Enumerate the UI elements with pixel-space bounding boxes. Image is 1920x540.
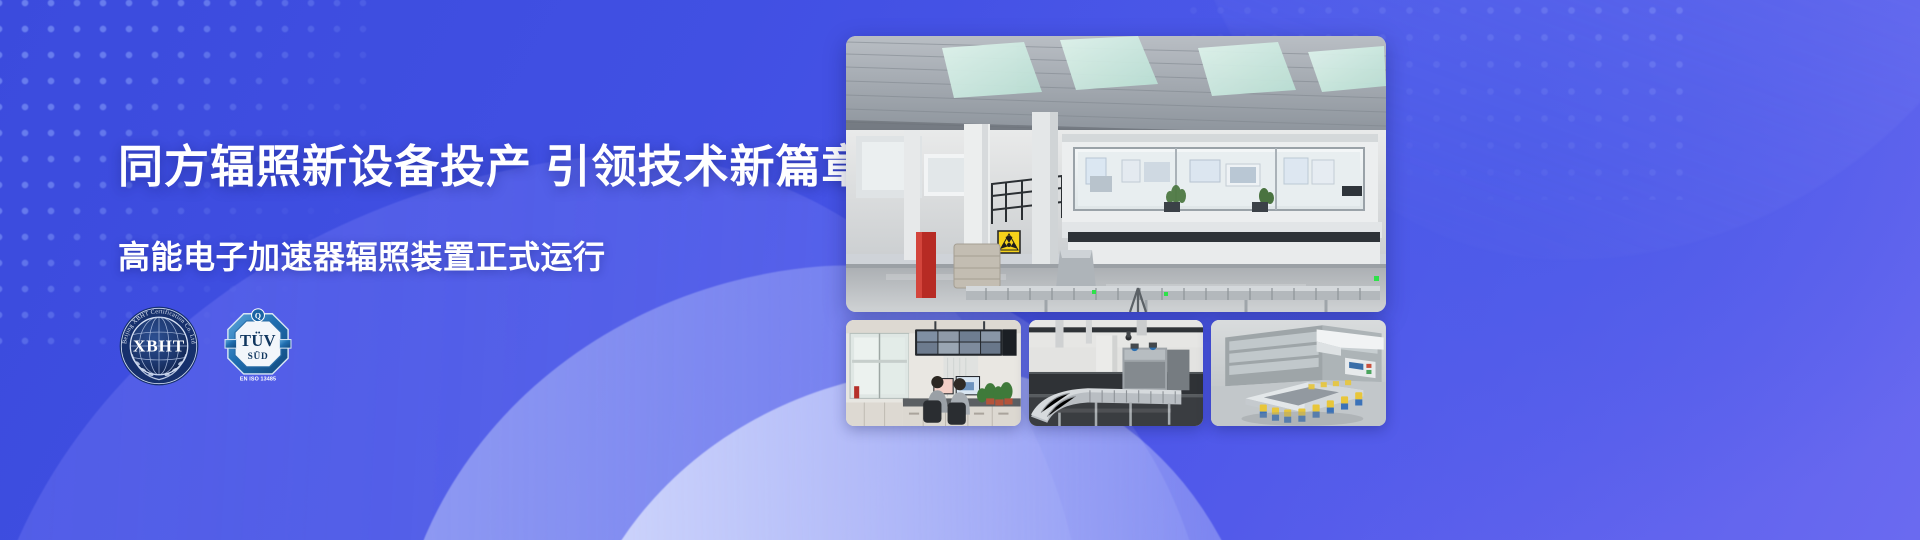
- irradiation-hall-photo[interactable]: [846, 36, 1386, 312]
- banner-subheadline: 高能电子加速器辐照装置正式运行: [118, 232, 878, 278]
- tuv-mark-text: TÜV: [240, 331, 276, 350]
- image-gallery: [846, 36, 1386, 426]
- tuv-q-badge: Q: [255, 311, 261, 320]
- banner-headline: 同方辐照新设备投产 引领技术新篇章: [118, 140, 878, 194]
- tuv-standard-text: EN ISO 13485: [240, 376, 276, 382]
- facility-3d-render[interactable]: [1211, 320, 1386, 426]
- tuv-sud-logo: Q TÜV SÜD EN ISO 13485: [222, 308, 294, 384]
- promotional-banner: 同方辐照新设备投产 引领技术新篇章 高能电子加速器辐照装置正式运行: [0, 0, 1920, 540]
- control-room-photo[interactable]: [846, 320, 1021, 426]
- certification-logo-row: Beijing XBHT Certification Co. Ltd XBHT: [118, 305, 294, 387]
- banner-text-block: 同方辐照新设备投产 引领技术新篇章 高能电子加速器辐照装置正式运行: [118, 140, 878, 278]
- conveyor-line-photo[interactable]: [1029, 320, 1204, 426]
- xbht-mark-text: XBHT: [133, 337, 185, 356]
- thumbnail-row: [846, 320, 1386, 426]
- xbht-certification-logo: Beijing XBHT Certification Co. Ltd XBHT: [118, 305, 200, 387]
- radiation-warning-sign: [998, 231, 1020, 253]
